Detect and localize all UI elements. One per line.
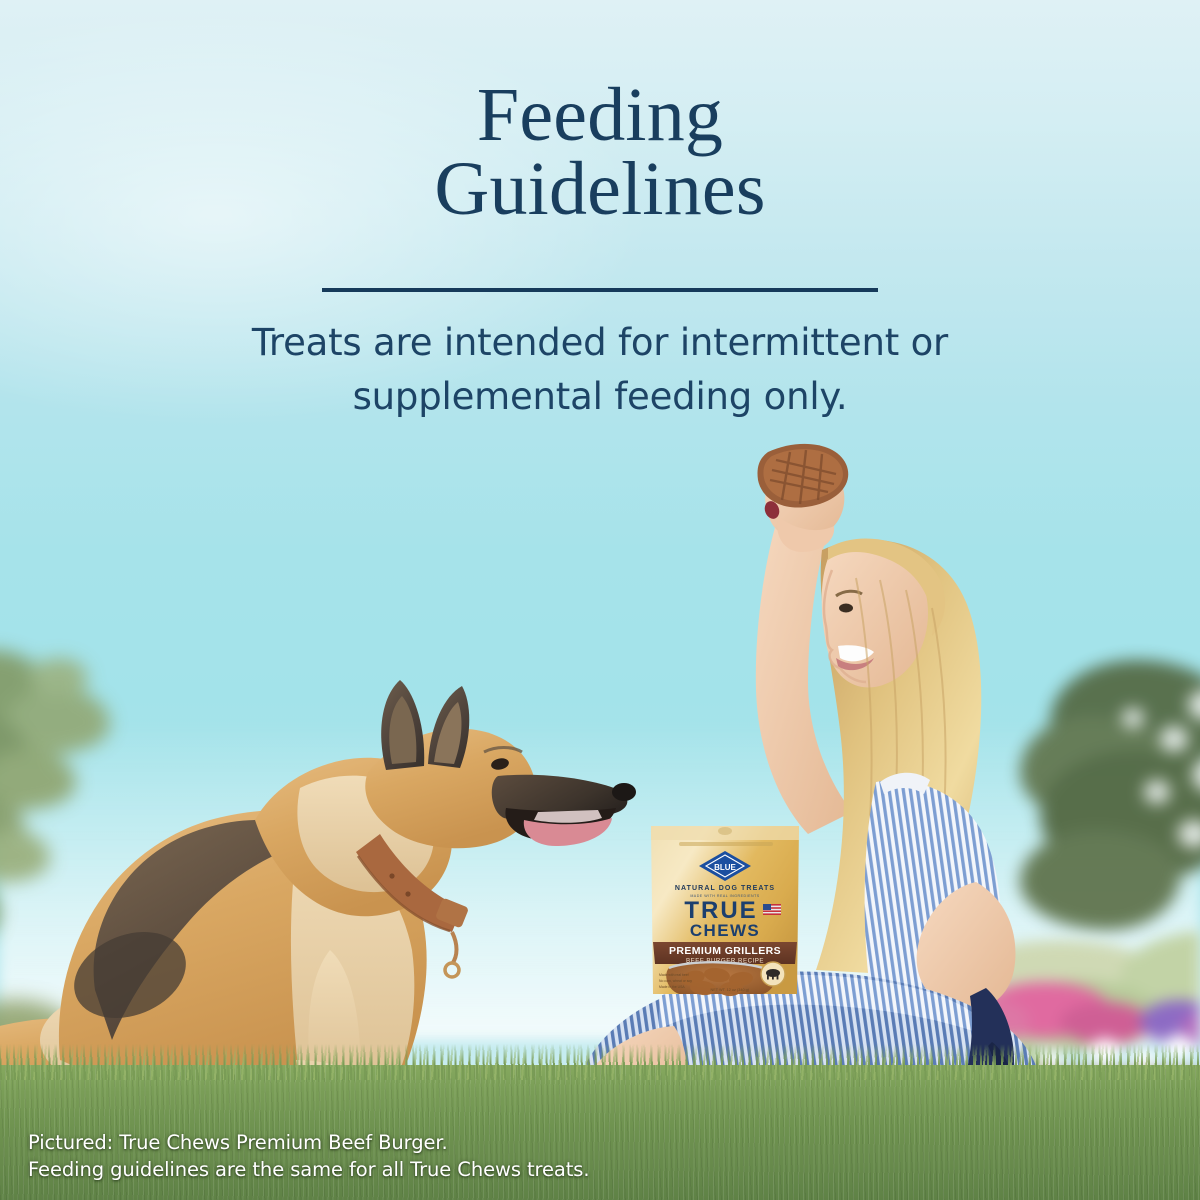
page-title: Feeding Guidelines [0, 78, 1200, 227]
package-product-name-line1: TRUE [684, 897, 757, 924]
real-beef-badge [761, 962, 785, 986]
caption-line-2: Feeding guidelines are the same for all … [28, 1156, 589, 1184]
caption-line-1: Pictured: True Chews Premium Beef Burger… [28, 1129, 589, 1157]
subtitle: Treats are intended for intermittent or … [110, 316, 1090, 423]
page-title-line-2: Guidelines [0, 152, 1200, 226]
package-tagline: NATURAL DOG TREATS [675, 885, 775, 892]
page-title-line-1: Feeding [0, 78, 1200, 152]
feeding-guidelines-promo-image: BLUE NATURAL DOG TREATS MADE WITH REAL I… [0, 0, 1200, 1200]
grass-blades-edge [0, 1044, 1200, 1080]
subtitle-line-2: supplemental feeding only. [353, 375, 848, 418]
package-brand-logo: BLUE [714, 863, 736, 872]
title-divider [322, 288, 878, 292]
true-chews-product-package: BLUE NATURAL DOG TREATS MADE WITH REAL I… [645, 818, 805, 998]
svg-text:Made in the USA: Made in the USA [659, 985, 685, 989]
woman-holding-treat [540, 430, 1060, 1120]
package-variant: PREMIUM GRILLERS [669, 945, 781, 957]
svg-text:Made with real beef: Made with real beef [659, 973, 689, 977]
package-product-name-line2: CHEWS [690, 921, 760, 940]
subtitle-line-1: Treats are intended for intermittent or [252, 321, 948, 364]
package-net-weight: NET WT. 12 oz (340 g) [710, 988, 749, 992]
us-flag-icon [763, 904, 781, 915]
svg-text:No corn, wheat or soy: No corn, wheat or soy [659, 979, 692, 983]
image-caption: Pictured: True Chews Premium Beef Burger… [28, 1129, 589, 1184]
